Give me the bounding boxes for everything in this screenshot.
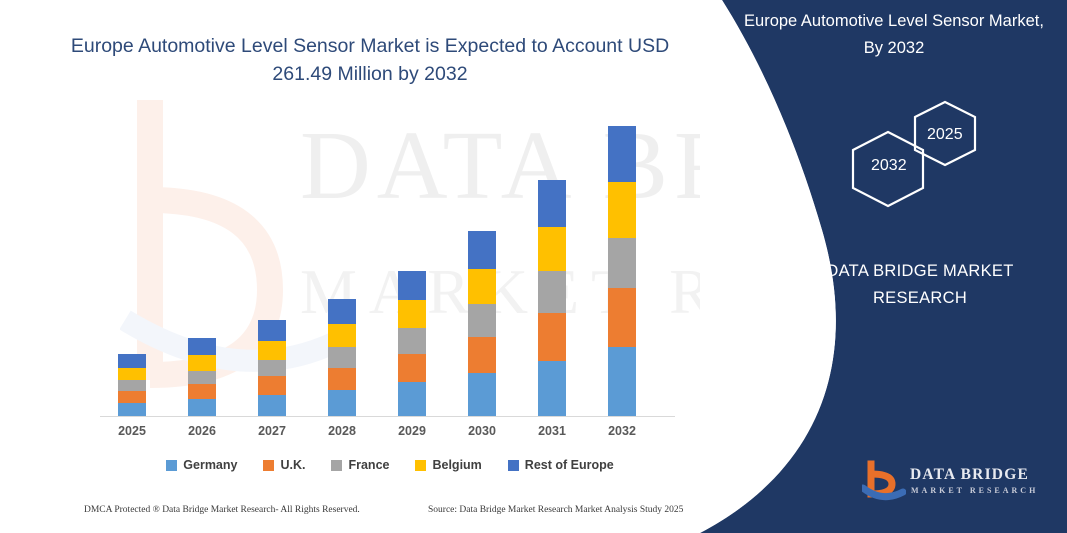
bar-segment-belgium: [608, 182, 636, 237]
hexagon-2032-label: 2032: [871, 157, 907, 175]
bar-segment-rest-of-europe: [468, 231, 496, 269]
bar-segment-germany: [118, 403, 146, 417]
x-axis-line: [100, 416, 675, 417]
legend-swatch-icon: [331, 460, 342, 471]
bar-segment-france: [188, 371, 216, 385]
bar-2026: [188, 338, 216, 417]
bar-segment-germany: [608, 347, 636, 417]
logo-mark-icon: [862, 460, 906, 504]
bar-segment-u-k-: [468, 337, 496, 374]
x-label-2032: 2032: [592, 424, 652, 438]
bar-segment-u-k-: [258, 376, 286, 395]
hexagon-group: 2032 2025: [820, 100, 1020, 220]
bar-segment-rest-of-europe: [258, 320, 286, 341]
x-label-2030: 2030: [452, 424, 512, 438]
legend-swatch-icon: [415, 460, 426, 471]
bar-segment-belgium: [188, 355, 216, 371]
bar-segment-u-k-: [188, 384, 216, 399]
bar-segment-france: [608, 238, 636, 288]
bar-segment-rest-of-europe: [608, 126, 636, 182]
legend-label: France: [348, 458, 389, 472]
legend-swatch-icon: [166, 460, 177, 471]
logo-text-primary: DATA BRIDGE: [910, 466, 1029, 484]
bar-2030: [468, 231, 496, 417]
footer: DMCA Protected ® Data Bridge Market Rese…: [0, 505, 760, 525]
bar-segment-france: [398, 328, 426, 354]
bar-segment-rest-of-europe: [328, 299, 356, 324]
bar-segment-belgium: [258, 341, 286, 360]
bar-segment-germany: [538, 361, 566, 417]
bar-segment-france: [118, 380, 146, 391]
hexagon-2025-label: 2025: [927, 126, 963, 144]
bar-segment-france: [328, 347, 356, 368]
logo-text-secondary: MARKET RESEARCH: [911, 486, 1038, 495]
bar-segment-germany: [188, 399, 216, 417]
chart-legend: GermanyU.K.FranceBelgiumRest of Europe: [100, 455, 680, 475]
bar-2025: [118, 354, 146, 417]
legend-label: Rest of Europe: [525, 458, 614, 472]
bar-segment-germany: [468, 373, 496, 417]
legend-item-france[interactable]: France: [331, 458, 389, 472]
footer-source: Source: Data Bridge Market Research Mark…: [428, 505, 683, 515]
brand-name: DATA BRIDGE MARKET RESEARCH: [800, 258, 1040, 312]
bar-segment-u-k-: [608, 288, 636, 346]
legend-label: Belgium: [432, 458, 481, 472]
x-label-2031: 2031: [522, 424, 582, 438]
x-label-2026: 2026: [172, 424, 232, 438]
bar-segment-u-k-: [328, 368, 356, 391]
bar-2031: [538, 180, 566, 417]
x-label-2028: 2028: [312, 424, 372, 438]
chart-title: Europe Automotive Level Sensor Market is…: [70, 32, 670, 88]
bar-2029: [398, 270, 426, 417]
x-label-2027: 2027: [242, 424, 302, 438]
bar-segment-belgium: [118, 368, 146, 381]
legend-item-germany[interactable]: Germany: [166, 458, 237, 472]
bar-segment-belgium: [538, 227, 566, 272]
x-axis-labels: 20252026202720282029203020312032: [100, 424, 675, 444]
bar-segment-germany: [328, 390, 356, 417]
bar-segment-belgium: [398, 300, 426, 328]
bar-segment-belgium: [468, 269, 496, 305]
legend-item-rest-of-europe[interactable]: Rest of Europe: [508, 458, 614, 472]
stacked-bar-chart: [100, 120, 670, 417]
bar-2028: [328, 299, 356, 417]
legend-label: Germany: [183, 458, 237, 472]
bar-segment-france: [538, 271, 566, 313]
bar-segment-rest-of-europe: [118, 354, 146, 368]
hexagon-icons: [820, 100, 1020, 220]
bar-segment-france: [258, 360, 286, 377]
legend-item-belgium[interactable]: Belgium: [415, 458, 481, 472]
legend-item-u-k-[interactable]: U.K.: [263, 458, 305, 472]
bar-segment-u-k-: [398, 354, 426, 383]
bar-segment-belgium: [328, 324, 356, 347]
chart-pane: DATA BRIDGE MARKET RESEARCH Europe Autom…: [0, 0, 760, 533]
bar-segment-rest-of-europe: [538, 180, 566, 227]
panel-title: Europe Automotive Level Sensor Market, B…: [744, 8, 1044, 62]
x-label-2025: 2025: [102, 424, 162, 438]
legend-swatch-icon: [263, 460, 274, 471]
x-label-2029: 2029: [382, 424, 442, 438]
legend-label: U.K.: [280, 458, 305, 472]
bar-segment-rest-of-europe: [398, 271, 426, 301]
infographic-root: DATA BRIDGE MARKET RESEARCH Europe Autom…: [0, 0, 1067, 533]
legend-swatch-icon: [508, 460, 519, 471]
bar-2027: [258, 320, 286, 417]
bar-segment-rest-of-europe: [188, 338, 216, 355]
bar-segment-u-k-: [118, 391, 146, 403]
company-logo: DATA BRIDGE MARKET RESEARCH: [862, 458, 1042, 510]
bar-segment-germany: [398, 382, 426, 417]
bar-segment-u-k-: [538, 313, 566, 361]
bar-segment-france: [468, 304, 496, 337]
footer-copyright: DMCA Protected ® Data Bridge Market Rese…: [84, 505, 360, 515]
bar-2032: [608, 126, 636, 417]
bar-segment-germany: [258, 395, 286, 417]
